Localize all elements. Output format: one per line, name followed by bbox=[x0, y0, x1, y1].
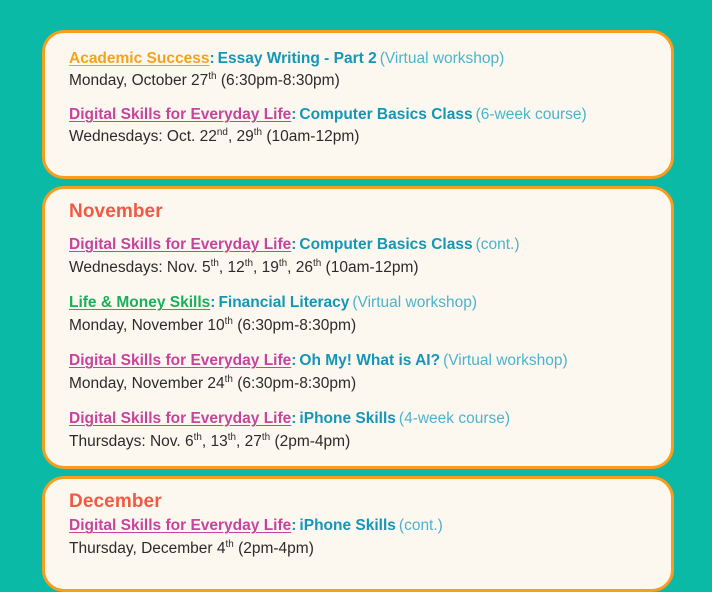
event-date-line: Monday, November 10th (6:30pm-8:30pm) bbox=[69, 315, 649, 337]
event-title-line: Digital Skills for Everyday Life:Oh My! … bbox=[69, 350, 649, 371]
course-note: (Virtual workshop) bbox=[352, 294, 477, 311]
date-suffix: (6:30pm-8:30pm) bbox=[233, 317, 356, 334]
date-mid: , 26 bbox=[287, 259, 313, 276]
month-heading-november: November bbox=[69, 201, 649, 223]
course-note: (cont.) bbox=[399, 517, 443, 534]
date-mid: , 27 bbox=[236, 433, 262, 450]
event-item: Digital Skills for Everyday Life:Oh My! … bbox=[69, 350, 649, 394]
date-ordinal-suffix: th bbox=[225, 373, 233, 384]
date-suffix: (10am-12pm) bbox=[321, 259, 418, 276]
date-ordinal-suffix: th bbox=[226, 539, 234, 550]
date-ordinal-suffix: th bbox=[225, 315, 233, 326]
schedule-page: Academic Success:Essay Writing - Part 2(… bbox=[0, 0, 712, 550]
event-item: Life & Money Skills:Financial Literacy(V… bbox=[69, 292, 649, 336]
date-suffix: (10am-12pm) bbox=[262, 128, 359, 145]
date-ordinal-suffix: th bbox=[208, 71, 216, 82]
date-prefix: Thursdays: Nov. 6 bbox=[69, 433, 194, 450]
program-link-digital-skills[interactable]: Digital Skills for Everyday Life bbox=[69, 236, 291, 253]
program-link-academic-success[interactable]: Academic Success bbox=[69, 50, 209, 67]
date-ordinal-suffix: th bbox=[262, 432, 270, 443]
event-date-line: Wednesdays: Oct. 22nd, 29th (10am-12pm) bbox=[69, 126, 649, 148]
course-note: (Virtual workshop) bbox=[380, 50, 505, 67]
date-prefix: Wednesdays: Nov. 5 bbox=[69, 259, 211, 276]
month-card-december: December Digital Skills for Everyday Lif… bbox=[42, 476, 674, 592]
month-card-november: November Digital Skills for Everyday Lif… bbox=[42, 186, 674, 469]
event-item: Digital Skills for Everyday Life:iPhone … bbox=[69, 515, 649, 559]
title-colon: : bbox=[291, 352, 296, 369]
month-card-october: Academic Success:Essay Writing - Part 2(… bbox=[42, 30, 674, 179]
date-suffix: (2pm-4pm) bbox=[234, 540, 314, 557]
event-item: Digital Skills for Everyday Life:Compute… bbox=[69, 104, 649, 148]
title-colon: : bbox=[291, 236, 296, 253]
course-name: Oh My! What is AI? bbox=[299, 352, 440, 369]
program-link-digital-skills[interactable]: Digital Skills for Everyday Life bbox=[69, 410, 291, 427]
title-colon: : bbox=[291, 517, 296, 534]
date-suffix: (6:30pm-8:30pm) bbox=[233, 375, 356, 392]
event-item: Academic Success:Essay Writing - Part 2(… bbox=[69, 48, 649, 92]
program-link-digital-skills[interactable]: Digital Skills for Everyday Life bbox=[69, 517, 291, 534]
event-item: Digital Skills for Everyday Life:Compute… bbox=[69, 234, 649, 278]
date-ordinal-suffix: th bbox=[254, 127, 262, 138]
date-mid: , 13 bbox=[202, 433, 228, 450]
event-title-line: Digital Skills for Everyday Life:Compute… bbox=[69, 104, 649, 125]
event-title-line: Digital Skills for Everyday Life:iPhone … bbox=[69, 515, 649, 536]
event-date-line: Monday, October 27th (6:30pm-8:30pm) bbox=[69, 70, 649, 92]
program-link-digital-skills[interactable]: Digital Skills for Everyday Life bbox=[69, 352, 291, 369]
month-heading-december: December bbox=[69, 491, 649, 513]
date-mid: , 12 bbox=[219, 259, 245, 276]
program-link-digital-skills[interactable]: Digital Skills for Everyday Life bbox=[69, 106, 291, 123]
date-ordinal-suffix: th bbox=[279, 257, 287, 268]
date-ordinal-suffix: th bbox=[313, 257, 321, 268]
date-mid: , 19 bbox=[253, 259, 279, 276]
event-date-line: Monday, November 24th (6:30pm-8:30pm) bbox=[69, 373, 649, 395]
date-ordinal-suffix: th bbox=[211, 257, 219, 268]
date-ordinal-suffix: nd bbox=[217, 127, 228, 138]
course-note: (Virtual workshop) bbox=[443, 352, 568, 369]
title-colon: : bbox=[291, 106, 296, 123]
course-name: iPhone Skills bbox=[299, 410, 395, 427]
title-colon: : bbox=[291, 410, 296, 427]
event-date-line: Thursday, December 4th (2pm-4pm) bbox=[69, 538, 649, 560]
date-suffix: (6:30pm-8:30pm) bbox=[217, 72, 340, 89]
event-date-line: Thursdays: Nov. 6th, 13th, 27th (2pm-4pm… bbox=[69, 431, 649, 453]
program-link-life-money-skills[interactable]: Life & Money Skills bbox=[69, 294, 210, 311]
date-prefix: Monday, November 10 bbox=[69, 317, 225, 334]
date-ordinal-suffix: th bbox=[245, 257, 253, 268]
date-prefix: Monday, November 24 bbox=[69, 375, 225, 392]
event-item: Digital Skills for Everyday Life:iPhone … bbox=[69, 408, 649, 452]
course-name: iPhone Skills bbox=[299, 517, 395, 534]
title-colon: : bbox=[210, 294, 215, 311]
date-prefix: Thursday, December 4 bbox=[69, 540, 226, 557]
course-note: (6-week course) bbox=[476, 106, 587, 123]
event-title-line: Digital Skills for Everyday Life:Compute… bbox=[69, 234, 649, 255]
date-prefix: Wednesdays: Oct. 22 bbox=[69, 128, 217, 145]
course-name: Essay Writing - Part 2 bbox=[218, 50, 377, 67]
event-date-line: Wednesdays: Nov. 5th, 12th, 19th, 26th (… bbox=[69, 257, 649, 279]
date-suffix: (2pm-4pm) bbox=[270, 433, 350, 450]
course-note: (4-week course) bbox=[399, 410, 510, 427]
event-title-line: Digital Skills for Everyday Life:iPhone … bbox=[69, 408, 649, 429]
event-title-line: Life & Money Skills:Financial Literacy(V… bbox=[69, 292, 649, 313]
event-title-line: Academic Success:Essay Writing - Part 2(… bbox=[69, 48, 649, 69]
date-prefix: Monday, October 27 bbox=[69, 72, 208, 89]
date-ordinal-suffix: th bbox=[228, 432, 236, 443]
course-note: (cont.) bbox=[476, 236, 520, 253]
date-mid: , 29 bbox=[228, 128, 254, 145]
course-name: Computer Basics Class bbox=[299, 236, 472, 253]
course-name: Computer Basics Class bbox=[299, 106, 472, 123]
course-name: Financial Literacy bbox=[218, 294, 349, 311]
title-colon: : bbox=[209, 50, 214, 67]
date-ordinal-suffix: th bbox=[194, 432, 202, 443]
